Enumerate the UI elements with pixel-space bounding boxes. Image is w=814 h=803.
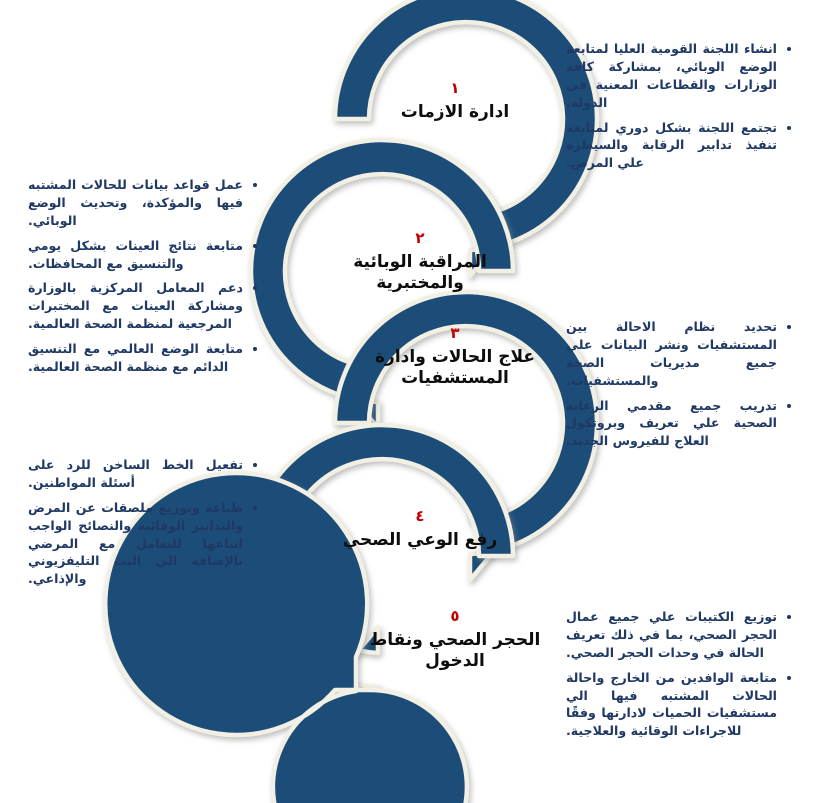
stage-label-5: الحجر الصحي ونقاط الدخول [360,630,550,674]
stage-number-3: ٣ [360,325,550,342]
bullet-list-4: تفعيل الخط الساخن للرد على أسئلة المواطن… [28,456,260,588]
bullet-list-5: توزيع الكتيبات علي جميع عمال الحجر الصحي… [566,608,794,740]
bullet-list-3: تحديد نظام الاحالة بين المستشفيات ونشر ا… [566,318,794,450]
list-item: انشاء اللجنة القومية العليا لمتابعة الوض… [566,40,779,112]
bullet-group-stage-4: تفعيل الخط الساخن للرد على أسئلة المواطن… [28,456,260,588]
list-item: دعم المعامل المركزية بالوزارة ومشاركة ال… [28,279,245,333]
bullet-group-stage-3: تحديد نظام الاحالة بين المستشفيات ونشر ا… [566,318,794,450]
list-item: تحديد نظام الاحالة بين المستشفيات ونشر ا… [566,318,779,390]
stage-label-1: ادارة الازمات [360,102,550,124]
bullet-list-1: انشاء اللجنة القومية العليا لمتابعة الوض… [566,40,794,172]
stage-core-4: ٤ رفع الوعي الصحي [325,508,515,551]
infographic-canvas: ١ ادارة الازمات ٢ المراقبة الوبائية والم… [0,0,814,803]
bullet-group-stage-2: عمل قواعد بيانات للحالات المشتبه فيها وا… [28,176,260,376]
bullet-list-2: عمل قواعد بيانات للحالات المشتبه فيها وا… [28,176,260,376]
stage-label-3: علاج الحالات وادارة المستشفيات [360,347,550,391]
list-item: طباعة وتوزيع ملصقات عن المرض والتدابير ا… [28,499,245,588]
list-item: تدريب جميع مقدمي الرعاية الصحية علي تعري… [566,397,779,451]
stage-number-1: ١ [360,80,550,97]
bullet-group-stage-1: انشاء اللجنة القومية العليا لمتابعة الوض… [566,40,794,172]
stage-core-1: ١ ادارة الازمات [360,80,550,123]
list-item: متابعة الوافدين من الخارج واحالة الحالات… [566,669,779,741]
list-item: عمل قواعد بيانات للحالات المشتبه فيها وا… [28,176,245,230]
stage-core-2: ٢ المراقبة الوبائية والمختبرية [325,230,515,295]
stage-number-2: ٢ [325,230,515,247]
list-item: تجتمع اللجنة بشكل دوري لمتابعة تنفيذ تدا… [566,119,779,173]
list-item: تفعيل الخط الساخن للرد على أسئلة المواطن… [28,456,245,492]
stage-label-2: المراقبة الوبائية والمختبرية [325,252,515,296]
list-item: متابعة نتائج العينات بشكل يومي والتنسيق … [28,237,245,273]
stage-number-4: ٤ [325,508,515,525]
list-item: متابعة الوضع العالمي مع التنسيق الدائم م… [28,340,245,376]
stage-core-3: ٣ علاج الحالات وادارة المستشفيات [360,325,550,390]
stage-label-4: رفع الوعي الصحي [325,530,515,552]
list-item: توزيع الكتيبات علي جميع عمال الحجر الصحي… [566,608,779,662]
stage-number-5: ٥ [360,608,550,625]
bullet-group-stage-5: توزيع الكتيبات علي جميع عمال الحجر الصحي… [566,608,794,740]
stage-core-5: ٥ الحجر الصحي ونقاط الدخول [360,608,550,673]
